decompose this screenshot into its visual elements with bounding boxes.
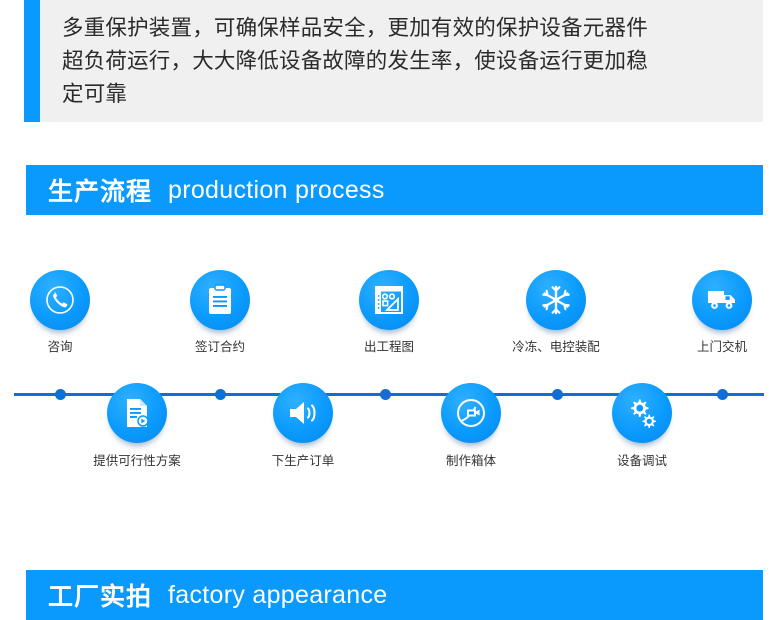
blueprint-icon — [359, 270, 419, 330]
flow-step-label: 出工程图 — [319, 340, 459, 355]
speaker-icon — [273, 383, 333, 443]
flow-dot — [717, 389, 728, 400]
box-build-icon — [441, 383, 501, 443]
page-root: 多重保护装置，可确保样品安全，更加有效的保护设备元器件 超负荷运行，大大降低设备… — [0, 0, 780, 605]
flow-step-equipment-debug[interactable]: 设备调试 — [572, 383, 712, 469]
flow-dot — [55, 389, 66, 400]
section-title-cn-production: 生产流程 — [48, 172, 152, 208]
flow-step-label: 下生产订单 — [233, 454, 373, 469]
flow-step-consultation[interactable]: 咨询 — [0, 270, 130, 355]
flow-step-delivery[interactable]: 上门交机 — [652, 270, 780, 355]
flow-step-engineering-drawing[interactable]: 出工程图 — [319, 270, 459, 355]
flow-step-label: 冷冻、电控装配 — [486, 340, 626, 355]
flow-step-feasibility-plan[interactable]: 提供可行性方案 — [67, 383, 207, 469]
feature-description: 多重保护装置，可确保样品安全，更加有效的保护设备元器件 超负荷运行，大大降低设备… — [40, 12, 666, 111]
section-banner-production: 生产流程 production process — [26, 165, 763, 215]
flow-step-label: 签订合约 — [150, 340, 290, 355]
flow-step-production-order[interactable]: 下生产订单 — [233, 383, 373, 469]
flow-step-label: 制作箱体 — [401, 454, 541, 469]
feature-text-panel: 多重保护装置，可确保样品安全，更加有效的保护设备元器件 超负荷运行，大大降低设备… — [40, 0, 763, 122]
flow-step-box-fabrication[interactable]: 制作箱体 — [401, 383, 541, 469]
flow-step-label: 咨询 — [0, 340, 130, 355]
truck-icon — [692, 270, 752, 330]
flow-step-contract[interactable]: 签订合约 — [150, 270, 290, 355]
flow-step-label: 设备调试 — [572, 454, 712, 469]
section-title-en-production: production process — [168, 176, 385, 205]
flow-dot — [380, 389, 391, 400]
section-banner-factory: 工厂实拍 factory appearance — [26, 570, 763, 620]
flow-step-refrigeration-assembly[interactable]: 冷冻、电控装配 — [486, 270, 626, 355]
snowflake-icon — [526, 270, 586, 330]
flow-dot — [215, 389, 226, 400]
feature-accent-bar — [24, 0, 40, 122]
phone-icon — [30, 270, 90, 330]
clipboard-icon — [190, 270, 250, 330]
flow-dot — [552, 389, 563, 400]
section-title-en-factory: factory appearance — [168, 581, 387, 610]
flow-step-label: 提供可行性方案 — [67, 454, 207, 469]
feature-highlight-block: 多重保护装置，可确保样品安全，更加有效的保护设备元器件 超负荷运行，大大降低设备… — [24, 0, 763, 122]
section-title-cn-factory: 工厂实拍 — [48, 577, 152, 613]
flow-step-label: 上门交机 — [652, 340, 780, 355]
gears-icon — [612, 383, 672, 443]
production-flow-diagram: 咨询 签订合约 — [0, 270, 780, 530]
document-icon — [107, 383, 167, 443]
